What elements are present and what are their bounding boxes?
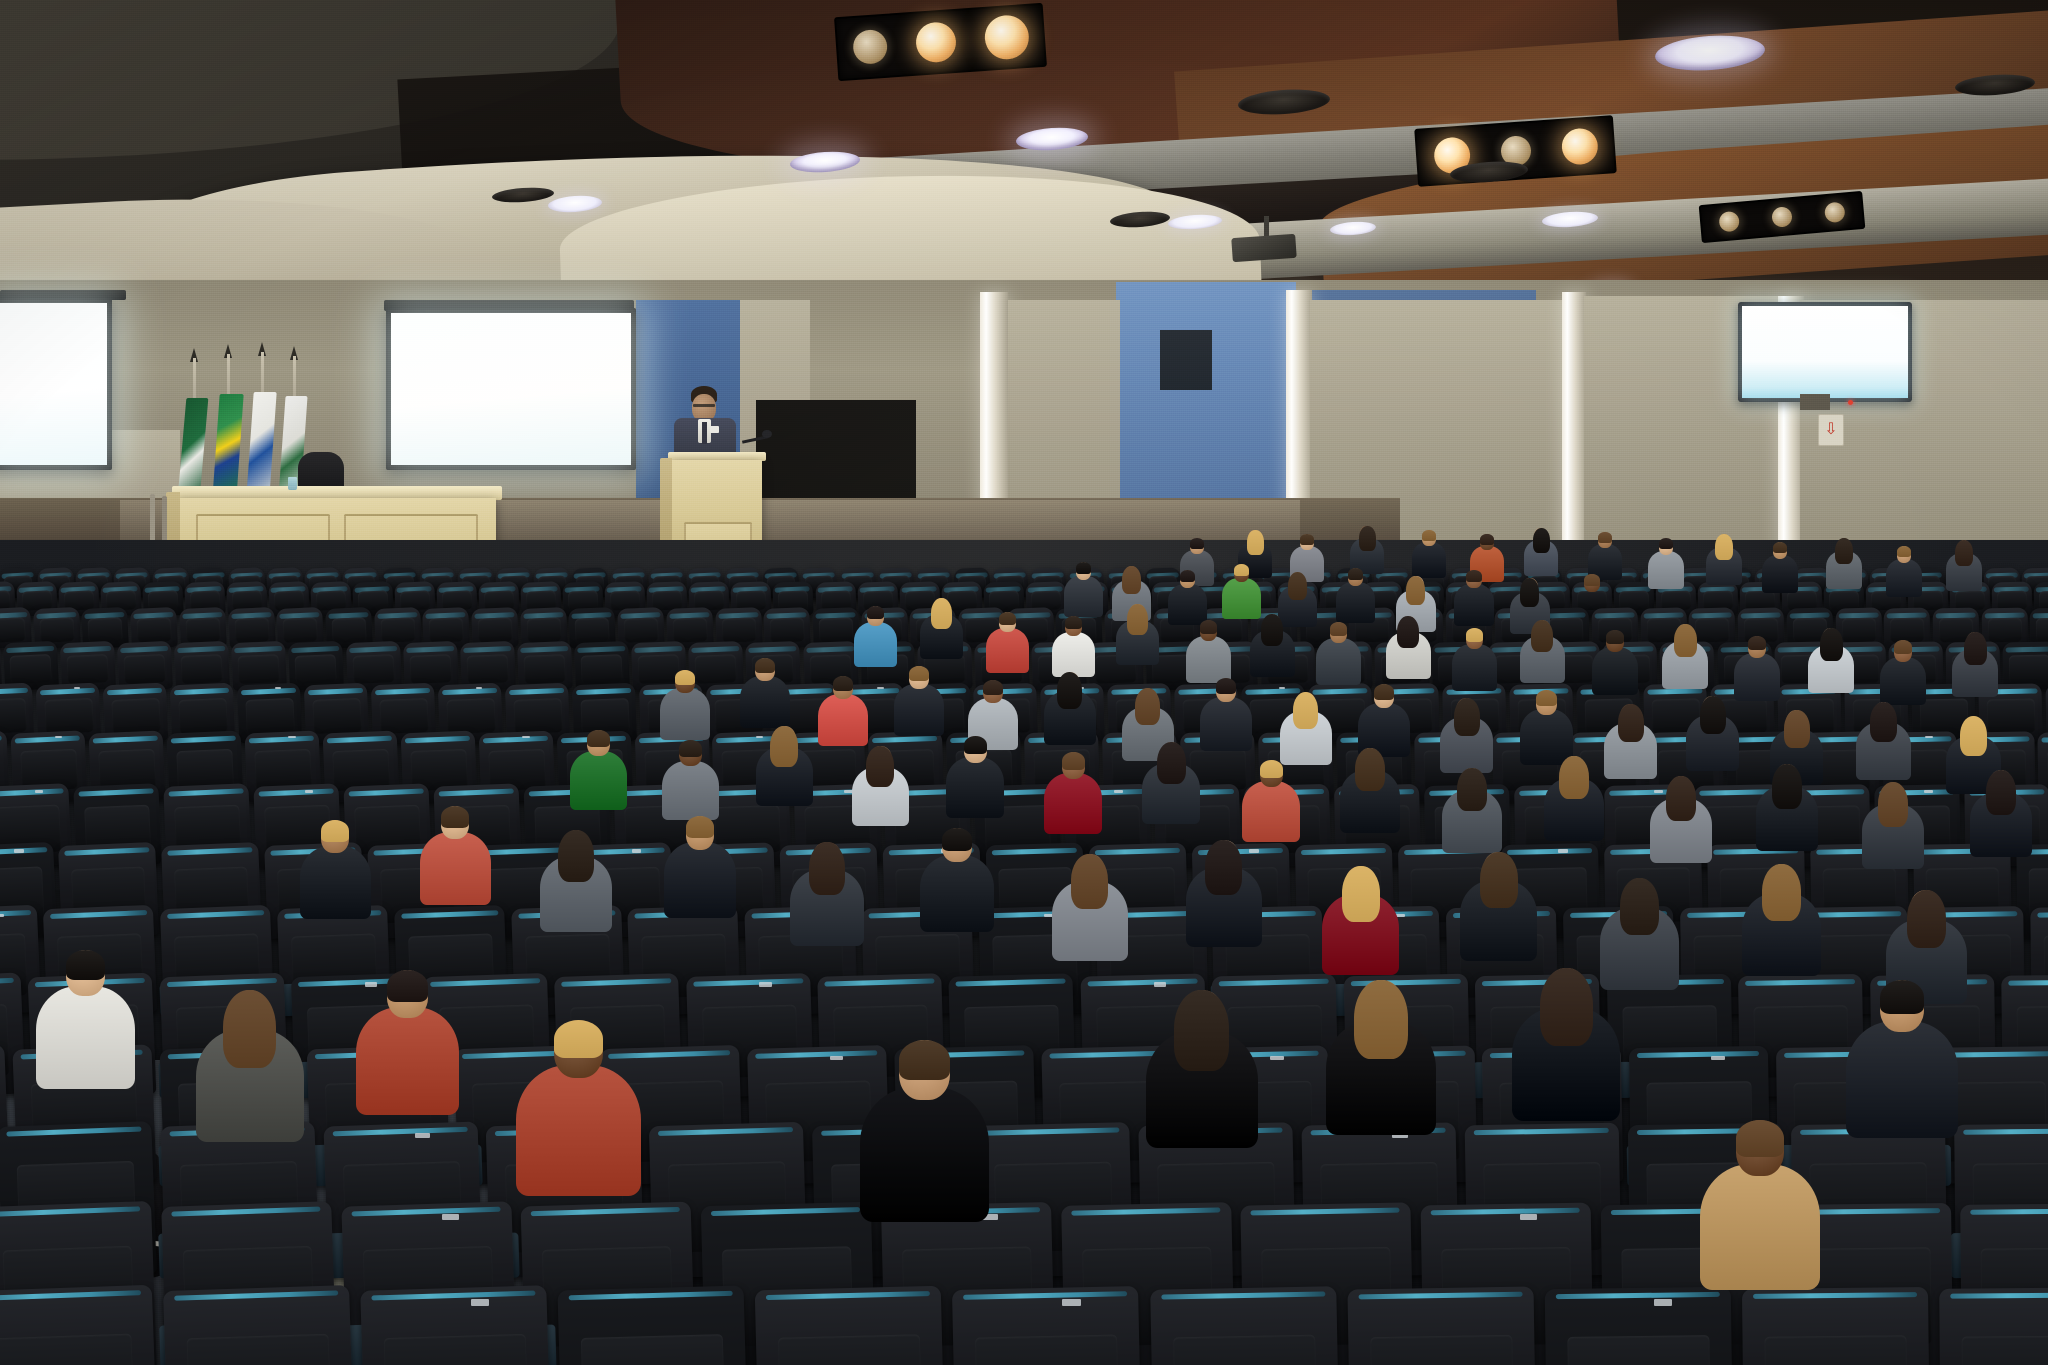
attendee-torso (1052, 632, 1095, 677)
attendee-pink-shirt (1250, 614, 1295, 682)
attendee-hair (964, 736, 987, 754)
attendee-hair (1666, 776, 1696, 821)
attendee-hair (1076, 562, 1091, 574)
attendee-torso (1700, 1164, 1820, 1290)
attendee-boots-right (1700, 1120, 1820, 1302)
attendee-torso (660, 688, 710, 740)
warm-spotlight-icon (983, 14, 1030, 61)
attendee-blonde-ponytail (1386, 616, 1431, 684)
exit-arrow-icon: ⇩ (1824, 422, 1837, 438)
auditorium-seat[interactable] (1150, 1286, 1340, 1365)
attendee-hair (942, 828, 971, 851)
attendee-hair (867, 606, 884, 619)
attendee-tan-trousers-right (1846, 980, 1958, 1149)
attendee-torso (860, 1087, 989, 1222)
attendee-torso (1336, 582, 1375, 623)
attendee-torso (818, 694, 868, 746)
auditorium-seat[interactable] (952, 1286, 1142, 1365)
attendee-salmon-shirt (660, 670, 710, 745)
attendee-hair (1127, 604, 1148, 635)
tv-mount-bracket (1800, 394, 1830, 410)
attendee-hair (1190, 538, 1204, 549)
attendee-tan-trousers-right (1460, 852, 1537, 969)
attendee-hair (833, 676, 853, 691)
attendee-hair (1986, 770, 2016, 815)
flag-2-brazil (212, 394, 243, 500)
attendee-hair (1533, 528, 1550, 553)
attendee-hair (1536, 690, 1557, 706)
seat-number-tag (1925, 736, 1932, 738)
attendee-hair (1964, 632, 1987, 665)
attendee-hair (1480, 852, 1518, 908)
attendee-white-shirt (196, 990, 304, 1153)
attendee-red-shirt-foreground (1200, 678, 1252, 756)
attendee-dark-hair-foreground (920, 598, 963, 663)
attendee-hair (1260, 760, 1283, 778)
attendee-white-shirt (1044, 752, 1102, 840)
attendee-torso (1572, 588, 1612, 629)
attendee-torso (1044, 773, 1102, 834)
attendee-pink-shirt (1524, 528, 1558, 580)
attendee-grey-shirt (946, 736, 1004, 824)
auditorium-seat[interactable] (163, 1285, 355, 1365)
attendee-blonde-ponytail (894, 666, 944, 741)
attendee-salmon-shirt (1242, 760, 1300, 848)
attendee-hair (66, 950, 105, 980)
attendee-hair (1454, 698, 1480, 736)
attendee-grey-shirt (1064, 562, 1103, 621)
attendee-torso (420, 832, 491, 906)
attendee-long-hair-right (1650, 776, 1712, 870)
attendee-hair (866, 746, 894, 787)
attendee-hair (1880, 980, 1924, 1014)
attendee-hair (554, 1020, 603, 1058)
attendee-torso (1452, 644, 1497, 691)
attendee-hair (1288, 572, 1307, 600)
attendee-hair (387, 970, 428, 1002)
attendee-torso (662, 761, 719, 820)
warm-spotlight-icon (1560, 127, 1598, 165)
attendee-tan-trousers-right (1756, 764, 1818, 858)
attendee-boots-right (1862, 782, 1924, 876)
attendee-salmon-shirt (1604, 704, 1657, 785)
attendee-crimson-hoodie (1052, 854, 1128, 968)
seat-number-tag (632, 849, 642, 852)
attendee-green-shirt (356, 970, 459, 1126)
attendee-red-shirt-foreground (854, 606, 897, 671)
attendee-hair (1700, 696, 1726, 734)
auditorium-seat[interactable] (360, 1285, 551, 1365)
attendee-hair (1736, 1120, 1784, 1157)
attendee-hair (931, 598, 952, 629)
attendee-salmon-shirt (516, 1020, 641, 1209)
attendee-tan-trousers-right (1044, 672, 1096, 750)
wall-mounted-tv (1738, 302, 1912, 402)
attendee-hair (1355, 748, 1385, 791)
attendee-crimson-hoodie (1316, 622, 1361, 690)
attendee-dark-hair-foreground (300, 820, 371, 927)
attendee-hair (1065, 616, 1082, 629)
auditorium-photograph: ⇩ (0, 0, 2048, 1365)
attendee-tan-trousers-right (1520, 620, 1565, 688)
flag-group (180, 348, 310, 498)
attendee-white-shirt (540, 830, 612, 939)
attendee-hair (1878, 782, 1908, 827)
attendee-hair (1480, 534, 1494, 545)
attendee-hair (441, 806, 469, 828)
seat-number-tag (288, 736, 295, 738)
attendee-green-shirt (1142, 742, 1200, 830)
attendee-long-hair-right (1706, 534, 1742, 589)
attendee-hair (1773, 542, 1787, 553)
seat-number-tag (415, 1133, 430, 1138)
attendee-torso (1880, 657, 1926, 706)
attendee-hair (1071, 854, 1108, 909)
attendee-torso (1648, 551, 1684, 589)
attendee-hair (1205, 840, 1242, 895)
seat-number-tag (1654, 1299, 1673, 1305)
attendee-red-shirt-foreground (1742, 864, 1821, 984)
attendee-red-shirt-foreground (1886, 546, 1922, 601)
attendee-hair (1466, 628, 1484, 642)
attendee-torso (1242, 781, 1300, 842)
attendee-torso (1846, 1021, 1958, 1138)
attendee-hair (1406, 576, 1425, 605)
seat-number-tag (1711, 1056, 1725, 1061)
attendee-pink-shirt (860, 1040, 989, 1235)
attendee-torso (1592, 647, 1638, 696)
attendee-hair (679, 740, 701, 757)
attendee-hair (1300, 534, 1314, 545)
seat-number-tag (1062, 1299, 1081, 1305)
seat-number-tag (1558, 849, 1568, 852)
auditorium-seat[interactable] (755, 1286, 945, 1365)
attendee-hair (1122, 566, 1141, 594)
auditorium-seat[interactable] (0, 1285, 158, 1365)
flag-3 (246, 392, 276, 498)
attendee-torso (740, 676, 790, 728)
attendee-boots-right (1572, 574, 1612, 634)
attendee-torso (1886, 559, 1922, 597)
seat-number-tag (442, 1214, 459, 1220)
eyeglasses-icon (693, 404, 715, 407)
projection-screen-left-surface (0, 303, 107, 465)
attendee-long-hair-right (1452, 628, 1497, 696)
seat-number-tag (522, 736, 529, 738)
warm-spotlight-icon (914, 21, 957, 64)
attendee-hair (983, 680, 1003, 695)
seat-number-tag (1114, 790, 1122, 793)
attendee-white-shirt (1880, 640, 1926, 710)
attendee-hair (587, 730, 609, 747)
projection-screen-center (386, 308, 636, 470)
attendee-hair (1359, 526, 1376, 551)
attendee-hair (1348, 568, 1363, 580)
attendee-torso (1222, 578, 1261, 619)
attendee-crimson-hoodie (818, 676, 868, 751)
attendee-boots-right (662, 740, 719, 826)
attendee-hair (321, 820, 349, 842)
tv-screen-surface (1742, 306, 1908, 398)
attendee-green-shirt (664, 816, 736, 925)
attendee-blonde-ponytail (1326, 980, 1436, 1146)
attendee-torso (1762, 555, 1798, 593)
attendee-hair (558, 830, 593, 882)
attendee-hair (1374, 684, 1394, 700)
attendee-hair (809, 842, 845, 895)
attendee-hair (1397, 616, 1419, 648)
attendee-hair (1330, 622, 1348, 636)
attendee-hair (1784, 710, 1810, 748)
attendee-hair (1354, 980, 1408, 1059)
attendee-hair (1820, 628, 1843, 661)
flag-1 (178, 398, 209, 498)
auditorium-seat[interactable] (558, 1285, 749, 1365)
attendee-hair (1894, 640, 1912, 654)
attendee-hair (1293, 692, 1318, 729)
attendee-hair (675, 670, 695, 685)
attendee-hair (899, 1040, 950, 1080)
attendee-hair (1659, 538, 1673, 549)
attendee-white-shirt (1440, 698, 1493, 779)
attendee-hair (1234, 564, 1249, 576)
warm-spotlight-icon (1771, 206, 1793, 228)
warm-spotlight-icon (1718, 211, 1740, 233)
attendee-torso (300, 846, 371, 920)
attendee-hair (1174, 990, 1229, 1071)
attendee-dark-hair-foreground (1946, 540, 1982, 595)
seat-number-tag (1924, 790, 1932, 793)
attendee-hair (1620, 878, 1659, 935)
attendee-green-shirt (1952, 632, 1998, 702)
attendee-torso (1200, 697, 1252, 751)
attendee-salmon-shirt (790, 842, 864, 954)
ceiling-projector-icon (1231, 234, 1297, 262)
attendee-hair (1715, 534, 1733, 560)
attendee-torso (1316, 638, 1361, 685)
attendee-torso (1734, 653, 1780, 702)
attendee-blonde-ponytail (1648, 538, 1684, 593)
seat-number-tag (35, 790, 43, 793)
attendee-hair (1835, 538, 1853, 564)
attendee-torso (1454, 584, 1494, 625)
attendee-torso (986, 628, 1029, 673)
attendee-torso (946, 757, 1004, 818)
attendee-grey-shirt (36, 950, 135, 1100)
attendee-pink-shirt (1686, 696, 1739, 777)
attendee-hair (1674, 624, 1697, 657)
attendee-hair (223, 990, 276, 1068)
attendee-hair (755, 658, 775, 673)
auditorium-seat[interactable] (1939, 1287, 2048, 1365)
projection-screen-left (0, 298, 112, 470)
attendee-red-shirt-foreground (1970, 770, 2032, 864)
attendee-torso (1064, 576, 1103, 617)
seat-number-tag (830, 1056, 844, 1061)
emergency-exit-sign: ⇩ (1818, 414, 1844, 446)
auditorium-seat[interactable] (1347, 1286, 1536, 1365)
attendee-hair (1062, 752, 1085, 770)
attendee-hair (1897, 546, 1911, 557)
attendee-hair (1157, 742, 1186, 784)
attendee-hair (1466, 570, 1482, 582)
attendee-crimson-hoodie (1336, 568, 1375, 627)
attendee-long-hair-right (1454, 570, 1494, 630)
seat-number-tag (1520, 1214, 1537, 1220)
projection-screen-center-surface (391, 313, 631, 465)
attendee-hair (1540, 968, 1593, 1046)
attendee-dark-hair-foreground (1734, 636, 1780, 706)
attendee-dark-hair-foreground (852, 746, 909, 832)
attendee-crimson-hoodie (1146, 990, 1258, 1159)
attendee-pink-shirt (1340, 748, 1400, 839)
attendee-tan-trousers-right (570, 730, 627, 816)
warm-spotlight-icon (852, 29, 888, 65)
pocket-square (710, 426, 719, 433)
attendee-boots-right (1826, 538, 1862, 593)
attendee-hair (1772, 764, 1802, 809)
attendee-torso (1186, 636, 1231, 683)
alarm-indicator-icon (1848, 400, 1853, 405)
attendee-torso (894, 684, 944, 736)
attendee-hair (770, 726, 798, 767)
attendee-green-shirt (1412, 530, 1446, 582)
attendee-torso (356, 1007, 459, 1115)
seat-number-tag (759, 982, 771, 986)
attendee-torso (1168, 584, 1207, 625)
attendee-hair (1422, 530, 1436, 541)
attendee-hair (1748, 636, 1766, 650)
attendee-hair (1180, 570, 1195, 582)
attendee-blonde-ponytail (1856, 702, 1911, 785)
attendee-grey-shirt (1808, 628, 1854, 698)
attendee-blonde-ponytail (1544, 756, 1604, 847)
warm-spotlight-icon (1824, 202, 1846, 224)
attendee-hair (1870, 702, 1897, 742)
attendee-tan-trousers-right (1762, 542, 1798, 597)
attendee-grey-shirt (420, 806, 491, 913)
attendee-torso (516, 1065, 641, 1196)
attendee-hair (686, 816, 715, 838)
attendee-hair (1057, 672, 1082, 709)
seat-number-tag (305, 790, 313, 793)
attendee-hair (1342, 866, 1380, 922)
dark-recess-center (1160, 330, 1212, 390)
attendee-hair (1955, 540, 1973, 566)
attendee-long-hair-right (1322, 866, 1399, 983)
illuminated-pillar-3 (1562, 292, 1586, 546)
attendee-hair (1531, 620, 1553, 652)
attendee-hair (1200, 620, 1218, 634)
attendee-hair (909, 666, 929, 681)
seat-number-tag (14, 849, 24, 852)
attendee-torso (920, 855, 994, 932)
attendee-hair (1520, 578, 1539, 607)
attendee-torso (570, 751, 627, 810)
attendee-hair (1598, 532, 1612, 543)
attendee-torso (854, 622, 897, 667)
attendee-hair (1247, 530, 1264, 555)
attendee-red-shirt-foreground (756, 726, 813, 812)
seat-number-tag (1154, 982, 1166, 986)
attendee-pink-shirt (920, 828, 994, 940)
attendee-hair (1907, 890, 1947, 948)
attendee-hair (1457, 768, 1487, 811)
attendee-long-hair-right (1512, 968, 1620, 1132)
attendee-hair (999, 612, 1016, 625)
attendee-hair (1216, 678, 1236, 694)
attendee-hair (1762, 864, 1801, 921)
attendee-grey-shirt (986, 612, 1029, 677)
attendee-pink-shirt (740, 658, 790, 733)
water-glass (288, 477, 297, 490)
seat-number-tag (55, 736, 62, 738)
attendee-hair (1618, 704, 1644, 742)
seat-number-tag (1270, 1056, 1284, 1061)
attendee-hair (1559, 756, 1589, 799)
seat-number-tag (471, 1299, 490, 1305)
presenter-tie (702, 422, 707, 444)
attendee-torso (664, 842, 736, 918)
attendee-torso (1412, 542, 1446, 578)
attendee-dark-hair-foreground (1280, 692, 1332, 770)
attendee-hair (1960, 716, 1987, 756)
podium-microphone-icon (762, 430, 772, 438)
attendee-hair (1261, 614, 1283, 646)
attendee-hair (1135, 688, 1160, 725)
attendee-green-shirt (1116, 604, 1159, 669)
attendee-red-shirt-foreground (1662, 624, 1708, 694)
seat-number-tag (0, 914, 4, 918)
attendee-torso (36, 986, 135, 1090)
attendee-hair (1584, 574, 1600, 586)
attendee-hair (1606, 630, 1624, 644)
attendee-boots-right (1592, 630, 1638, 700)
attendee-blonde-ponytail (1186, 840, 1262, 954)
attendee-crimson-hoodie (1442, 768, 1502, 859)
